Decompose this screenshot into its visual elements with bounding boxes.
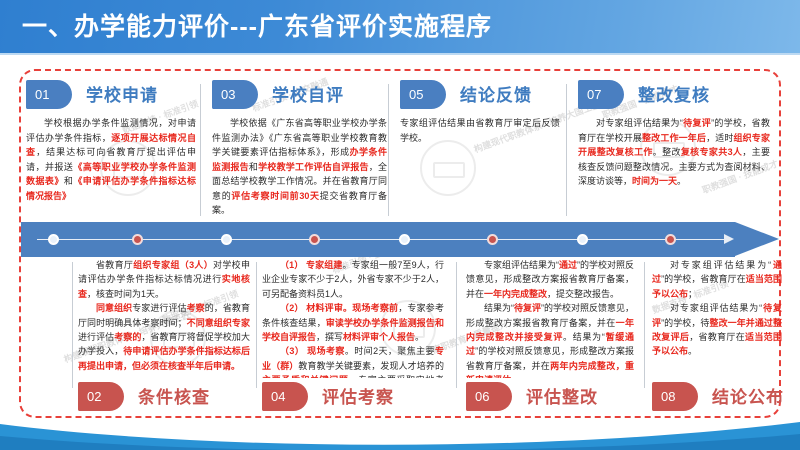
column-divider <box>256 262 257 388</box>
timeline-node-03[interactable] <box>221 234 232 245</box>
emphasis-text: 现场考察 <box>307 346 345 356</box>
emphasis-text: 评估考察时间前30天 <box>231 191 319 201</box>
plain-text: ，核查时间为1天。 <box>87 289 164 299</box>
plain-text: 进行评估 <box>78 332 114 342</box>
paragraph: （2） 材料评审。现场考察前，专家参考条件核查结果，审读学校办学条件监测报告和学… <box>262 301 444 344</box>
plain-text: 。时间2天，聚焦主要 <box>345 346 435 356</box>
emphasis-text: 考察的 <box>114 332 141 342</box>
plain-text: ”的学校，省教育厅在 <box>661 274 746 284</box>
plain-text: 对专家组评估结果为“ <box>596 118 683 128</box>
plain-text: 。 <box>688 346 697 356</box>
emphasis-text: 整改工作一年后 <box>642 133 706 143</box>
plain-text: ； <box>688 289 697 299</box>
step-card-05[interactable]: 05结论反馈专家组评估结果由省教育厅审定后反馈学校。 <box>400 80 560 215</box>
plain-text: 专家组评估结果为“ <box>484 260 559 270</box>
timeline-node-08[interactable] <box>665 234 676 245</box>
emphasis-text: 待复评 <box>683 118 711 128</box>
emphasis-text: 组织专家组（3人） <box>133 260 213 270</box>
column-divider <box>566 84 567 216</box>
column-divider <box>644 262 645 388</box>
plain-text: 教育教学关键要素，发现人才培养的 <box>298 361 444 371</box>
step-number-badge: 05 <box>400 80 446 109</box>
plain-text: 。 <box>415 332 424 342</box>
column-divider <box>72 262 73 388</box>
plain-text: 和 <box>64 176 73 186</box>
plain-text: ，提交整改报告。 <box>547 289 619 299</box>
bottom-wave-shape <box>0 404 800 450</box>
step-header: 01学校申请 <box>26 80 196 111</box>
process-timeline-arrow <box>21 222 779 257</box>
step-title: 学校自评 <box>272 81 344 106</box>
timeline-node-07[interactable] <box>577 234 588 245</box>
emphasis-text: 同意组织 <box>96 303 132 313</box>
emphasis-text: 复核专家共3人 <box>681 147 742 157</box>
timeline-node-06[interactable] <box>487 234 498 245</box>
emphasis-text: 待复评 <box>514 303 541 313</box>
plain-text: 和 <box>249 162 258 172</box>
emphasis-text: 主要矛盾和关键问题 <box>262 375 349 378</box>
plain-text: 。整改 <box>653 147 681 157</box>
emphasis-text: 时间为一天 <box>632 176 677 186</box>
slide-title-bar: 一、办学能力评价---广东省评价实施程序 <box>0 0 800 55</box>
emphasis-text: 考察 <box>187 303 205 313</box>
plain-text: 结果为“ <box>484 303 514 313</box>
paragraph: 学校依据《广东省高等职业学校办学条件监测办法》《广东省高等职业学校教育教学关键要… <box>212 116 387 218</box>
plain-text: 省教育厅 <box>96 260 133 270</box>
step-card-01[interactable]: 01学校申请学校根据办学条件监测情况，对申请评估办学条件指标，逐项开展达标情况自… <box>26 80 196 215</box>
plain-text: 。 <box>677 176 686 186</box>
step-number-badge: 07 <box>578 80 624 109</box>
step-header: 03学校自评 <box>212 80 387 111</box>
emphasis-text: 专家组建 <box>306 260 343 270</box>
step-body: （1） 专家组建。专家组一般7至9人，行业企业专家不少于2人，外省专家不少于2人… <box>262 258 444 378</box>
step-card-08[interactable]: 对专家组评估结果为“通过”的学校，省教育厅在适当范围予以公布；对专家组评估结果为… <box>652 258 782 416</box>
paragraph: 对专家组评估结果为“待复评”的学校，省教育厅在学校开展整改工作一年后，适时组织专… <box>578 116 770 189</box>
paragraph: 结果为“待复评”的学校对照反馈意见，形成整改方案报省教育厅备案，并在一年内完成整… <box>466 301 634 378</box>
plain-text: ，撰写 <box>316 332 343 342</box>
emphasis-text: （3） <box>280 346 304 356</box>
plain-text: ，省教育厅在 <box>689 332 745 342</box>
plain-text: 。结果为“ <box>563 332 605 342</box>
page-title: 一、办学能力评价---广东省评价实施程序 <box>22 7 492 43</box>
paragraph: （3） 现场考察。时间2天，聚焦主要专业（群）教育教学关键要素，发现人才培养的主… <box>262 344 444 378</box>
plain-text: ，适时 <box>706 133 733 143</box>
paragraph: 专家组评估结果为“通过”的学校对照反馈意见，形成整改方案报省教育厅备案，并在一年… <box>466 258 634 301</box>
emphasis-text: 材料评审。现场考察前 <box>306 303 398 313</box>
emphasis-text: 一年内完成整改 <box>484 289 547 299</box>
paragraph: 同意组织专家进行评估考察的，省教育厅同时明确具体考察时间；不同意组织专家进行评估… <box>78 301 250 373</box>
plain-text: ”的学校，待 <box>661 318 709 328</box>
paragraph: （1） 专家组建。专家组一般7至9人，行业企业专家不少于2人，外省专家不少于2人… <box>262 258 444 301</box>
step-header: 07整改复核 <box>578 80 770 111</box>
plain-text: 对专家组评估结果为“ <box>670 303 762 313</box>
arrow-line-tip <box>724 234 734 244</box>
timeline-node-05[interactable] <box>399 234 410 245</box>
emphasis-text: 不同意组织专家 <box>187 318 250 328</box>
emphasis-text: 学校教学工作评估自评报告 <box>258 162 369 172</box>
timeline-node-02[interactable] <box>132 234 143 245</box>
arrow-head <box>735 222 779 256</box>
emphasis-text: （1） <box>280 260 303 270</box>
step-body: 专家组评估结果为“通过”的学校对照反馈意见，形成整改方案报省教育厅备案，并在一年… <box>466 258 634 378</box>
paragraph: 对专家组评估结果为“待复评”的学校，待整改一年并通过整改复评后，省教育厅在适当范… <box>652 301 782 359</box>
step-card-06[interactable]: 专家组评估结果为“通过”的学校对照反馈意见，形成整改方案报省教育厅备案，并在一年… <box>466 258 634 416</box>
step-number-badge: 03 <box>212 80 258 109</box>
timeline-node-04[interactable] <box>309 234 320 245</box>
column-divider <box>388 84 389 216</box>
title-underline <box>0 53 800 55</box>
paragraph: 省教育厅组织专家组（3人）对学校申请评估办学条件指标达标情况进行实地核查，核查时… <box>78 258 250 301</box>
step-card-07[interactable]: 07整改复核对专家组评估结果为“待复评”的学校，省教育厅在学校开展整改工作一年后… <box>578 80 770 215</box>
bottom-decoration <box>0 404 800 450</box>
step-body: 省教育厅组织专家组（3人）对学校申请评估办学条件指标达标情况进行实地核查，核查时… <box>78 258 250 378</box>
plain-text: 对专家组评估结果为“ <box>670 260 771 270</box>
step-title: 学校申请 <box>86 81 158 106</box>
emphasis-text: 材料评审个人报告 <box>343 332 415 342</box>
column-divider <box>456 262 457 388</box>
step-number-badge: 01 <box>26 80 72 109</box>
column-divider <box>200 84 201 216</box>
step-body: 对专家组评估结果为“通过”的学校，省教育厅在适当范围予以公布；对专家组评估结果为… <box>652 258 782 378</box>
step-card-03[interactable]: 03学校自评学校依据《广东省高等职业学校办学条件监测办法》《广东省高等职业学校教… <box>212 80 387 215</box>
step-title: 整改复核 <box>638 81 710 106</box>
step-title: 结论反馈 <box>460 81 532 106</box>
emphasis-text: 通过 <box>559 260 577 270</box>
paragraph: 专家组评估结果由省教育厅审定后反馈学校。 <box>400 116 560 145</box>
step-header: 05结论反馈 <box>400 80 560 111</box>
plain-text: 专家进行评估 <box>132 303 186 313</box>
step-card-04[interactable]: （1） 专家组建。专家组一般7至9人，行业企业专家不少于2人，外省专家不少于2人… <box>262 258 444 416</box>
paragraph: 对专家组评估结果为“通过”的学校，省教育厅在适当范围予以公布； <box>652 258 782 301</box>
step-card-02[interactable]: 省教育厅组织专家组（3人）对学校申请评估办学条件指标达标情况进行实地核查，核查时… <box>78 258 250 416</box>
paragraph: 学校根据办学条件监测情况，对申请评估办学条件指标，逐项开展达标情况自查，结果达标… <box>26 116 196 203</box>
emphasis-text: （2） <box>280 303 304 313</box>
timeline-node-01[interactable] <box>48 234 59 245</box>
plain-text: 专家组评估结果由省教育厅审定后反馈学校。 <box>400 118 560 143</box>
